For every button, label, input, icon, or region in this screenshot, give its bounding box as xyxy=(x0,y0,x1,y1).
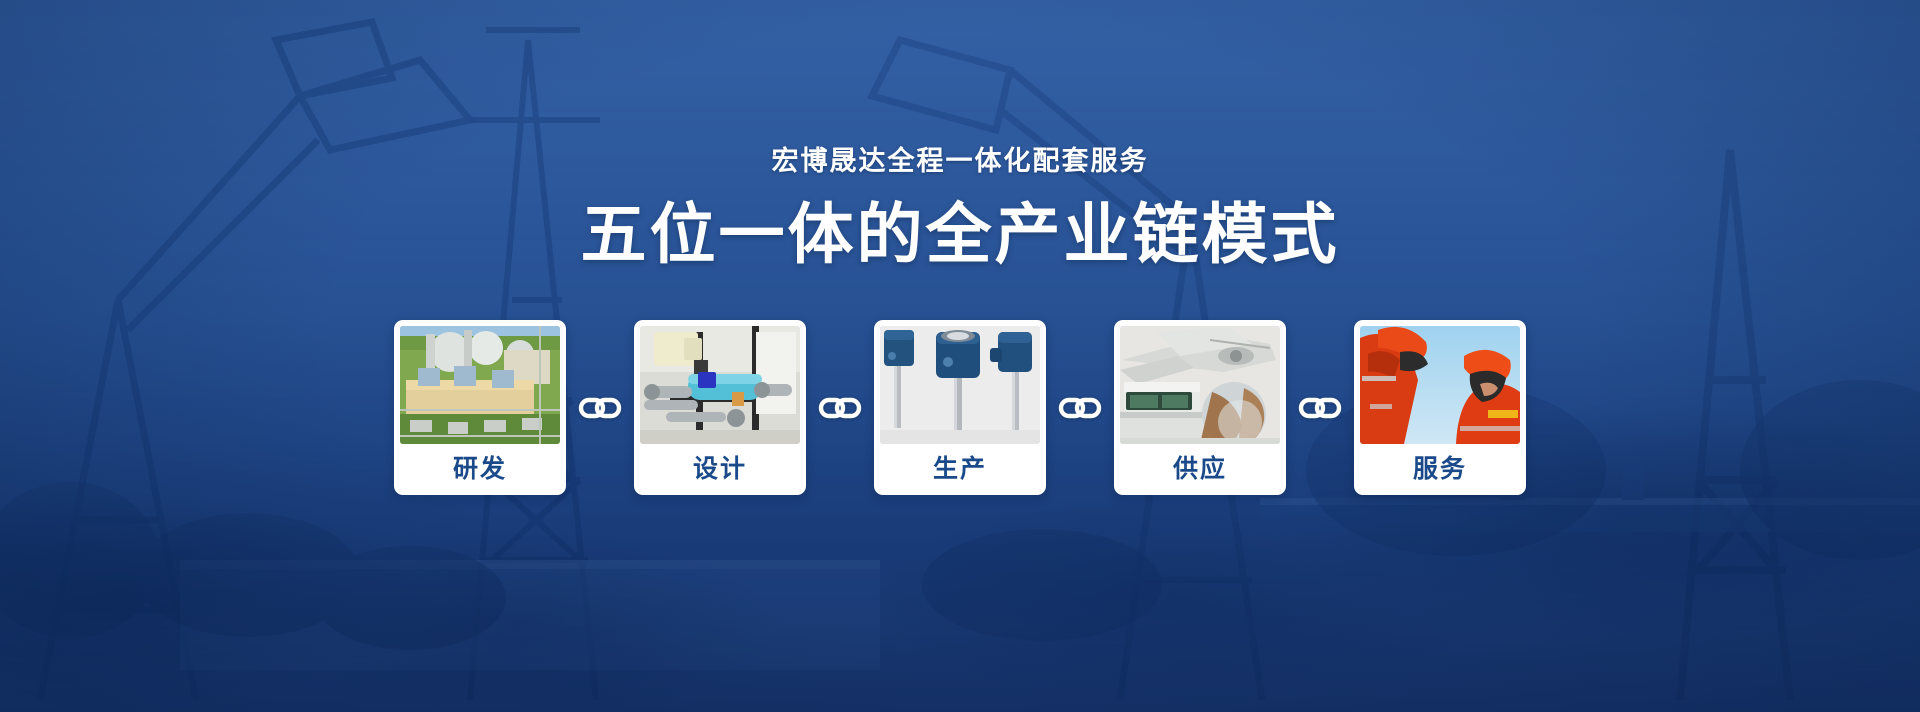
chain-card-label: 设计 xyxy=(693,444,747,495)
banner-content: 宏博晟达全程一体化配套服务 五位一体的全产业链模式 xyxy=(0,0,1920,712)
chain-link-icon xyxy=(806,395,874,421)
chain-link-icon xyxy=(1046,395,1114,421)
air-freight-truck-globe-logistics xyxy=(1120,326,1280,444)
blue-level-sensor-products xyxy=(880,326,1040,444)
hero-banner: 宏博晟达全程一体化配套服务 五位一体的全产业链模式 xyxy=(0,0,1920,712)
industrial-plant-aerial-photo xyxy=(400,326,560,444)
chain-card-label: 研发 xyxy=(453,444,507,495)
chain-link-icon xyxy=(1286,395,1354,421)
chain-link-icon xyxy=(566,395,634,421)
banner-subtitle: 宏博晟达全程一体化配套服务 xyxy=(772,148,1149,175)
cad-pump-assembly-render xyxy=(640,326,800,444)
value-chain-list: 研发 xyxy=(394,320,1526,495)
banner-title: 五位一体的全产业链模式 xyxy=(581,201,1340,267)
chain-card-label: 生产 xyxy=(933,444,987,495)
chain-card-sheji[interactable]: 设计 xyxy=(634,320,806,495)
chain-card-label: 供应 xyxy=(1173,444,1227,495)
chain-card-label: 服务 xyxy=(1413,444,1467,495)
chain-card-shengchan[interactable]: 生产 xyxy=(874,320,1046,495)
chain-card-gongying[interactable]: 供应 xyxy=(1114,320,1286,495)
chain-card-fuwu[interactable]: 服务 xyxy=(1354,320,1526,495)
field-workers-red-hardhats xyxy=(1360,326,1520,444)
chain-card-yanfa[interactable]: 研发 xyxy=(394,320,566,495)
